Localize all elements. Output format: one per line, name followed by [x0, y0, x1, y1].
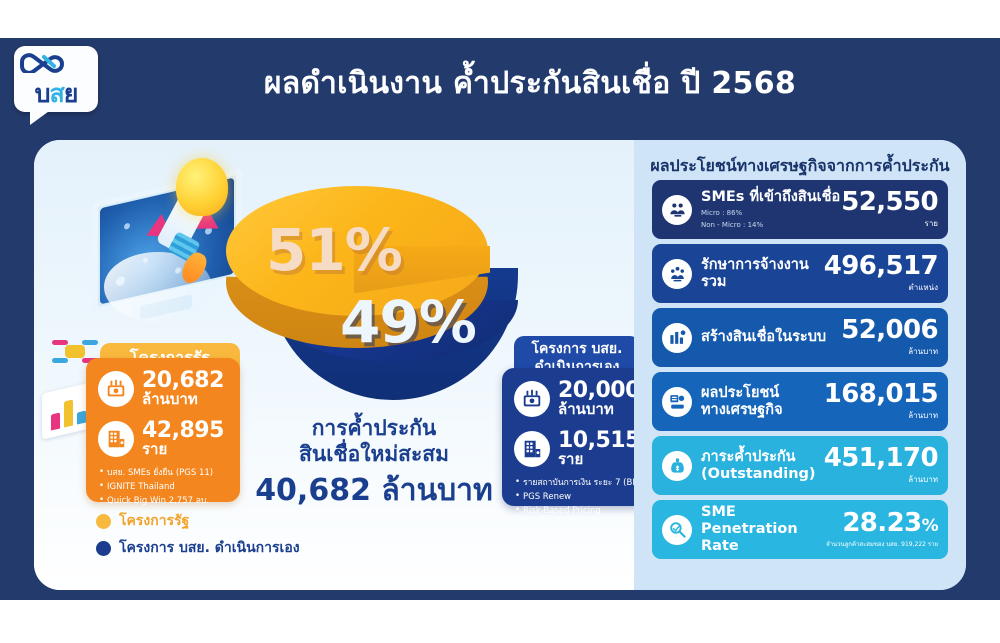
sme-group-icon: [662, 195, 692, 225]
legend-label-own: โครงการ บสย. ดำเนินการเอง: [119, 537, 300, 559]
own-bullet-1: รายสถาบันการเงิน ระยะ 7 (BI7): [515, 476, 644, 490]
gov-stat-amount: 20,682 ล้านบาท: [98, 370, 224, 408]
employment-icon: [662, 259, 692, 289]
gov-amount-value: 20,682: [142, 370, 224, 392]
benefit-value: 168,015: [824, 381, 938, 407]
own-tab-line-1: โครงการ บสย.: [514, 341, 640, 359]
benefit-row-penetration[interactable]: SME Penetration Rate 28.23% จำนวนลูกค้าส…: [652, 500, 948, 559]
legend-item-own[interactable]: โครงการ บสย. ดำเนินการเอง: [96, 537, 300, 559]
own-count-value: 10,515: [558, 430, 640, 452]
gov-count-unit: ราย: [142, 442, 224, 457]
gov-box: 20,682 ล้านบาท: [86, 358, 240, 502]
benefits-panel: ผลประโยชน์ทางเศรษฐกิจจากการค้ำประกัน SME…: [634, 140, 966, 590]
benefit-label-line-1: ภาระค้ำประกัน: [701, 449, 824, 466]
gov-bullet-1: บสย. SMEs ยั่งยืน (PGS 11): [99, 466, 213, 480]
gov-bullet-3: Quick Big Win 2,757 ลบ.: [99, 494, 213, 508]
infinity-mark-icon: [14, 51, 98, 73]
benefit-unit: ล้านบาท: [824, 473, 938, 486]
own-bullet-2: PGS Renew: [515, 490, 644, 504]
infographic-root: บสย ผลดำเนินงาน ค้ำประกันสินเชื่อ ปี 256…: [0, 0, 1000, 643]
pie-chart: 51% 49%: [202, 180, 552, 440]
benefit-row-credit[interactable]: สร้างสินเชื่อในระบบ 52,006 ล้านบาท: [652, 308, 948, 367]
own-box: 20,000 ล้านบาท: [502, 368, 652, 506]
benefit-row-economy[interactable]: ผลประโยชน์ ทางเศรษฐกิจ 168,015 ล้านบาท: [652, 372, 948, 431]
benefit-label-line-2: (Outstanding): [701, 466, 824, 483]
economy-icon: [662, 387, 692, 417]
chart-caption: การค้ำประกัน สินเชื่อใหม่สะสม 40,682 ล้า…: [246, 415, 502, 509]
bsy-logo: บสย: [14, 46, 98, 112]
illustration-field: 51% 49% การค้ำประกัน สินเชื่อใหม่สะสม 40…: [34, 140, 634, 590]
benefit-row-employment[interactable]: รักษาการจ้างงานรวม 496,517 ตำแหน่ง: [652, 244, 948, 303]
benefit-value: 496,517: [824, 253, 938, 279]
gov-bullet-list: บสย. SMEs ยั่งยืน (PGS 11) IGNITE Thaila…: [99, 466, 213, 508]
benefit-unit: ตำแหน่ง: [824, 281, 938, 294]
benefit-value-number: 28.23: [842, 508, 921, 538]
gov-count-value: 42,895: [142, 420, 224, 442]
building-icon: [514, 431, 550, 467]
pie-label-orange: 51%: [266, 216, 402, 284]
own-bullet-3: Risk-Based Pricing: [515, 504, 644, 518]
own-stat-amount: 20,000 ล้านบาท: [514, 380, 640, 418]
cash-box-icon: [514, 381, 550, 417]
caption-total: 40,682 ล้านบาท: [246, 472, 502, 510]
own-bullet-list: รายสถาบันการเงิน ระยะ 7 (BI7) PGS Renew …: [515, 476, 644, 518]
benefit-label: รักษาการจ้างงานรวม: [701, 257, 824, 291]
legend-item-gov[interactable]: โครงการรัฐ: [96, 510, 300, 532]
benefit-value: 28.23%: [826, 510, 938, 536]
benefits-list: SMEs ที่เข้าถึงสินเชื่อ Micro : 86% Non …: [652, 180, 948, 564]
legend-swatch-blue: [96, 541, 111, 556]
gov-amount-unit: ล้านบาท: [142, 392, 224, 407]
benefit-label-line-2: ทางเศรษฐกิจ: [701, 402, 824, 419]
logo-wordmark: บสย: [14, 74, 98, 114]
benefit-label: สร้างสินเชื่อในระบบ: [701, 329, 841, 346]
penetration-icon: [662, 515, 692, 545]
benefit-sub-micro: Micro : 86%: [701, 208, 841, 218]
legend-label-gov: โครงการรัฐ: [119, 510, 189, 532]
benefit-row-smes-access[interactable]: SMEs ที่เข้าถึงสินเชื่อ Micro : 86% Non …: [652, 180, 948, 239]
caption-line-2: สินเชื่อใหม่สะสม: [246, 441, 502, 467]
page-title: ผลดำเนินงาน ค้ำประกันสินเชื่อ ปี 2568: [150, 60, 910, 107]
own-count-unit: ราย: [558, 452, 640, 467]
building-icon: [98, 421, 134, 457]
benefit-label-line-1: SME: [701, 504, 826, 521]
benefit-unit: ล้านบาท: [841, 345, 938, 358]
caption-line-1: การค้ำประกัน: [246, 415, 502, 441]
benefit-row-outstanding[interactable]: ภาระค้ำประกัน (Outstanding) 451,170 ล้าน…: [652, 436, 948, 495]
benefit-value: 52,550: [841, 189, 938, 215]
benefit-label-line-1: ผลประโยชน์: [701, 385, 824, 402]
own-stat-count: 10,515 ราย: [514, 430, 640, 468]
benefit-value-symbol: %: [922, 516, 938, 536]
gov-bullet-2: IGNITE Thailand: [99, 480, 213, 494]
main-card: 51% 49% การค้ำประกัน สินเชื่อใหม่สะสม 40…: [34, 140, 966, 590]
pie-label-blue: 49%: [340, 288, 476, 356]
own-amount-value: 20,000: [558, 380, 640, 402]
chart-legend: โครงการรัฐ โครงการ บสย. ดำเนินการเอง: [96, 510, 300, 564]
guarantee-bag-icon: [662, 451, 692, 481]
own-amount-unit: ล้านบาท: [558, 402, 640, 417]
benefit-label-line-2: Penetration Rate: [701, 521, 826, 555]
gov-stat-count: 42,895 ราย: [98, 420, 224, 458]
benefit-sub-nonmicro: Non - Micro : 14%: [701, 220, 841, 230]
benefit-note: จำนวนลูกค้าสะสมของ บสย. 919,222 ราย: [826, 539, 938, 549]
credit-icon: [662, 323, 692, 353]
benefit-unit: ล้านบาท: [824, 409, 938, 422]
legend-swatch-orange: [96, 514, 111, 529]
benefit-label: SMEs ที่เข้าถึงสินเชื่อ: [701, 189, 841, 206]
benefit-value: 52,006: [841, 317, 938, 343]
benefit-value: 451,170: [824, 445, 938, 471]
cash-box-icon: [98, 371, 134, 407]
benefits-title: ผลประโยชน์ทางเศรษฐกิจจากการค้ำประกัน: [634, 154, 966, 179]
benefit-unit: ราย: [841, 217, 938, 230]
